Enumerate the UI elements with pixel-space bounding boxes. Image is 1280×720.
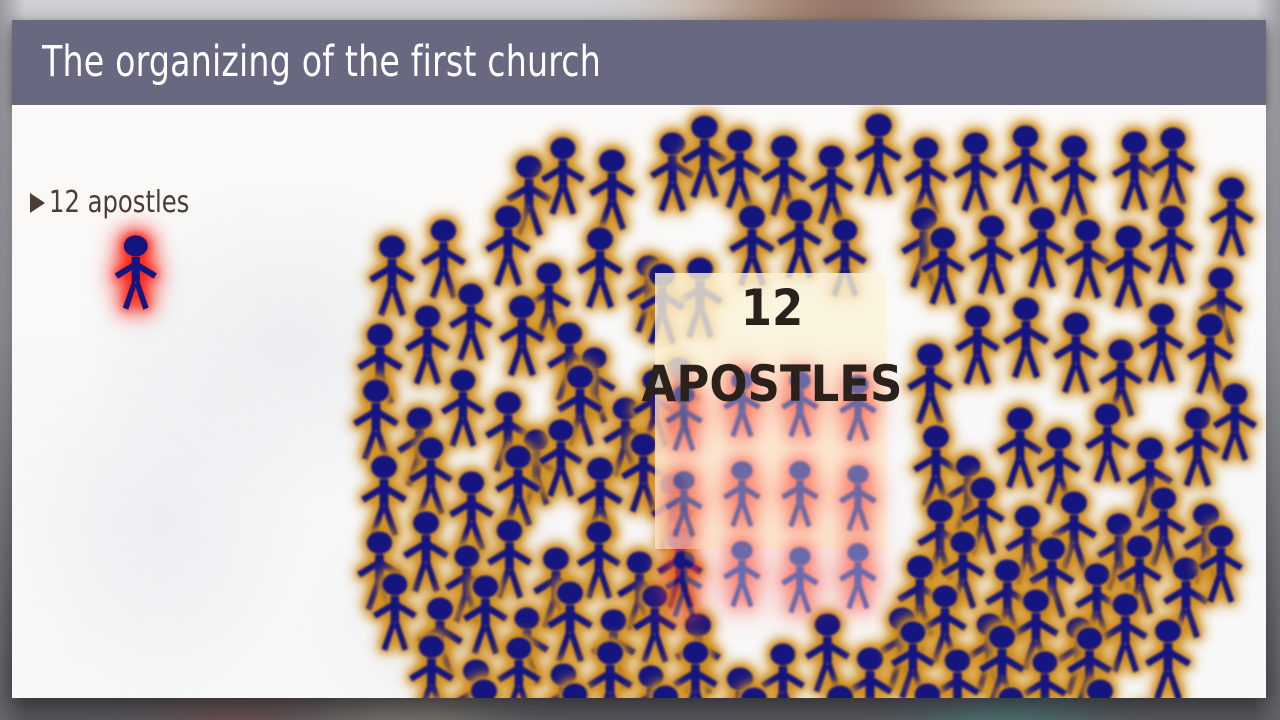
apostle-figure [835,541,881,610]
apostle-figure [719,539,765,608]
slide-stage: The organizing of the first church 12 ap… [0,0,1280,720]
apostle-figure [661,469,707,538]
crowd-figure [998,295,1054,379]
crowd-figure [916,225,970,306]
crowd-figure [948,130,1003,212]
crowd-figure [812,683,868,698]
crowd-figure [1194,523,1248,604]
crowd-figure [1204,175,1259,257]
slide-header-bar: The organizing of the first church [12,20,1266,105]
apostle-figure [661,383,707,452]
church-crowd-figures [12,105,1266,698]
slide-body: 12 apostles 12 APOSTLES [12,105,1266,698]
crowd-figure [984,685,1038,698]
apostle-figure [719,369,765,438]
crowd-figure [998,123,1053,205]
apostle-figure [777,459,823,528]
crowd-figure [1144,203,1199,285]
crowd-figure [444,281,498,362]
crowd-figure [726,685,782,698]
presentation-slide: The organizing of the first church 12 ap… [12,20,1266,698]
crowd-figure [456,677,512,698]
crowd-figure [638,683,693,698]
apostle-figure [777,545,823,614]
crowd-figure [584,147,640,231]
apostle-figure [835,373,881,442]
crowd-figure [1140,617,1196,698]
crowd-figure [900,681,955,698]
page-title: The organizing of the first church [42,37,692,87]
crowd-figure [950,303,1005,385]
crowd-figure [1146,125,1200,206]
apostle-figure [719,459,765,528]
crowd-figure [899,135,953,216]
crowd-figure [964,213,1019,295]
crowd-figure [1208,381,1262,462]
apostle-figure [777,369,823,438]
crowd-figure [548,681,602,698]
page-title-text: The organizing of the first church [42,37,601,87]
apostle-figure [661,549,707,618]
crowd-figure [536,135,590,216]
crowd-figure [1072,677,1128,698]
apostles-callout-figures [655,273,887,549]
apostle-figure [835,463,881,532]
crowd-figure [1134,301,1189,383]
crowd-figure [572,225,628,309]
